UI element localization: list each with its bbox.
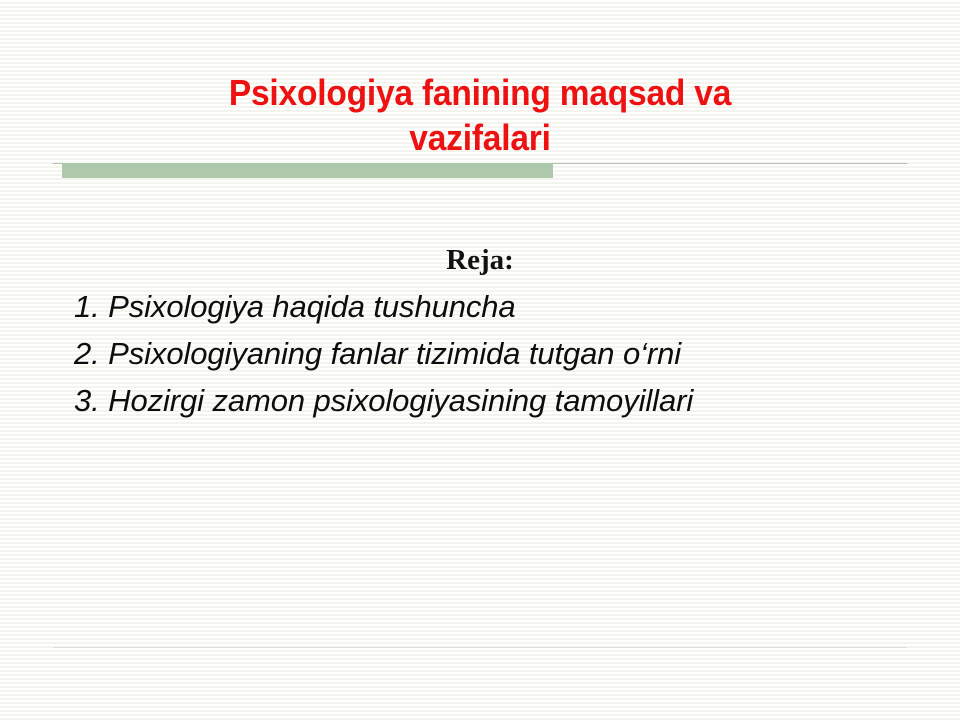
title-divider bbox=[53, 163, 907, 165]
slide-title-line-1: Psixologiya fanining maqsad va bbox=[91, 70, 868, 115]
title-divider-accent-bar bbox=[62, 163, 553, 178]
list-item: 1. Psixologiya haqida tushuncha bbox=[62, 284, 719, 329]
slide-title-line-2: vazifalari bbox=[91, 115, 868, 160]
slide-canvas: Psixologiya fanining maqsad va vazifalar… bbox=[0, 0, 960, 720]
list-item: 2. Psixologiyaning fanlar tizimida tutga… bbox=[62, 331, 719, 376]
slide-body: Reja: 1. Psixologiya haqida tushuncha 2.… bbox=[62, 240, 898, 425]
slide-title: Psixologiya fanining maqsad va vazifalar… bbox=[62, 70, 898, 160]
agenda-heading: Reja: bbox=[62, 240, 898, 280]
list-item: 3. Hozirgi zamon psixologiyasining tamoy… bbox=[62, 378, 719, 423]
footer-divider bbox=[53, 647, 907, 648]
